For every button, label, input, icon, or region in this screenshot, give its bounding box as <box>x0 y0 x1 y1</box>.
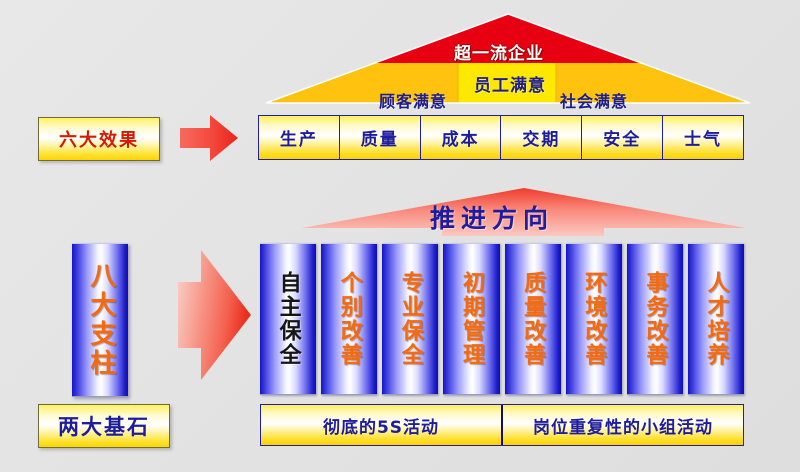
right-arrow-icon-pillars <box>175 248 253 382</box>
pillar-label: 人才培养 <box>703 271 728 367</box>
pillar[interactable]: 人才培养 <box>688 243 744 395</box>
effects-row: 生产 质量 成本 交期 安全 士气 <box>258 115 744 160</box>
roof-center-label: 员工满意 <box>474 71 546 96</box>
pillar-label: 环境改善 <box>581 271 606 367</box>
pillars-row: 自主保全 个别改善 专业保全 初期管理 质量改善 环境改善 事务改善 人才培养 <box>260 243 744 395</box>
pillar[interactable]: 事务改善 <box>627 243 683 395</box>
roof-left-label: 顾客满意 <box>379 88 447 112</box>
direction-label: 推进方向 <box>430 199 554 235</box>
effect-cell[interactable]: 士气 <box>663 116 743 159</box>
effect-cell[interactable]: 生产 <box>259 116 340 159</box>
pillar-label: 个别改善 <box>337 271 362 367</box>
pillar[interactable]: 质量改善 <box>505 243 561 395</box>
effect-cell[interactable]: 成本 <box>421 116 502 159</box>
two-cornerstones-tag: 两大基石 <box>38 404 170 448</box>
pillar-label: 质量改善 <box>520 271 545 367</box>
eight-pillars-tag: 八大支柱 <box>72 243 128 397</box>
pillar-label: 事务改善 <box>642 271 667 367</box>
pillar[interactable]: 个别改善 <box>321 243 377 395</box>
foundation-cell[interactable]: 彻底的5S活动 <box>261 405 503 445</box>
foundation-row: 彻底的5S活动 岗位重复性的小组活动 <box>260 404 744 446</box>
diagram-canvas: 超一流企业 员工满意 顾客满意 社会满意 六大效果 生产 质量 成本 交期 安全… <box>0 0 800 472</box>
pillar-label: 专业保全 <box>398 271 423 367</box>
six-effects-tag: 六大效果 <box>38 117 160 161</box>
foundation-cell[interactable]: 岗位重复性的小组活动 <box>503 405 743 445</box>
pillar[interactable]: 初期管理 <box>443 243 499 395</box>
roof-top-label: 超一流企业 <box>454 39 544 64</box>
effect-cell[interactable]: 交期 <box>501 116 582 159</box>
pillar[interactable]: 自主保全 <box>260 243 316 395</box>
effect-cell[interactable]: 质量 <box>340 116 421 159</box>
eight-pillars-tag-label: 八大支柱 <box>85 262 115 378</box>
pillar[interactable]: 专业保全 <box>382 243 438 395</box>
right-arrow-icon-effects <box>178 112 240 164</box>
roof-group: 超一流企业 员工满意 顾客满意 社会满意 <box>258 10 758 110</box>
pillar[interactable]: 环境改善 <box>566 243 622 395</box>
roof-right-label: 社会满意 <box>560 88 628 112</box>
pillar-label: 自主保全 <box>276 271 301 367</box>
pillar-label: 初期管理 <box>459 271 484 367</box>
effect-cell[interactable]: 安全 <box>582 116 663 159</box>
